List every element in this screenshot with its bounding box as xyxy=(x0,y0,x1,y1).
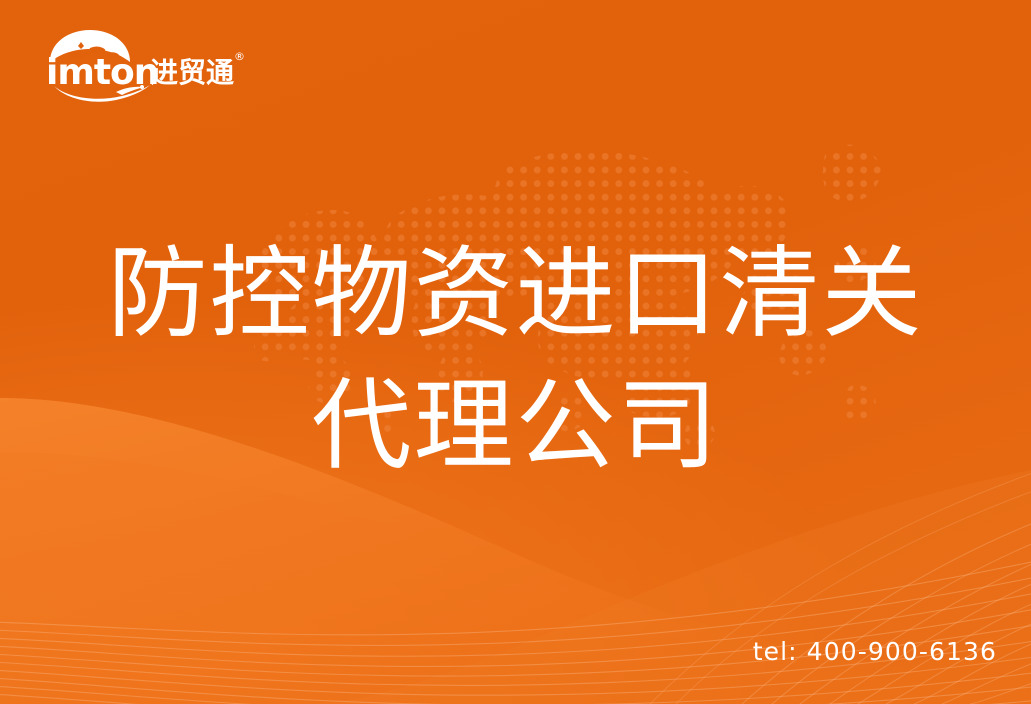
registered-trademark-icon: ® xyxy=(234,50,245,63)
promo-banner: imton 进贸通 ® 防控物资进口清关 代理公司 tel: 400-900-6… xyxy=(0,0,1031,704)
logo-wordmark: imton xyxy=(46,52,158,93)
contact-telephone[interactable]: tel: 400-900-6136 xyxy=(753,637,997,666)
company-logo[interactable]: imton 进贸通 ® xyxy=(38,26,253,104)
headline: 防控物资进口清关 代理公司 xyxy=(0,228,1031,492)
headline-line-1: 防控物资进口清关 xyxy=(0,228,1031,360)
logo-chinese-name: 进贸通 xyxy=(150,56,234,89)
headline-line-2: 代理公司 xyxy=(0,360,1031,492)
